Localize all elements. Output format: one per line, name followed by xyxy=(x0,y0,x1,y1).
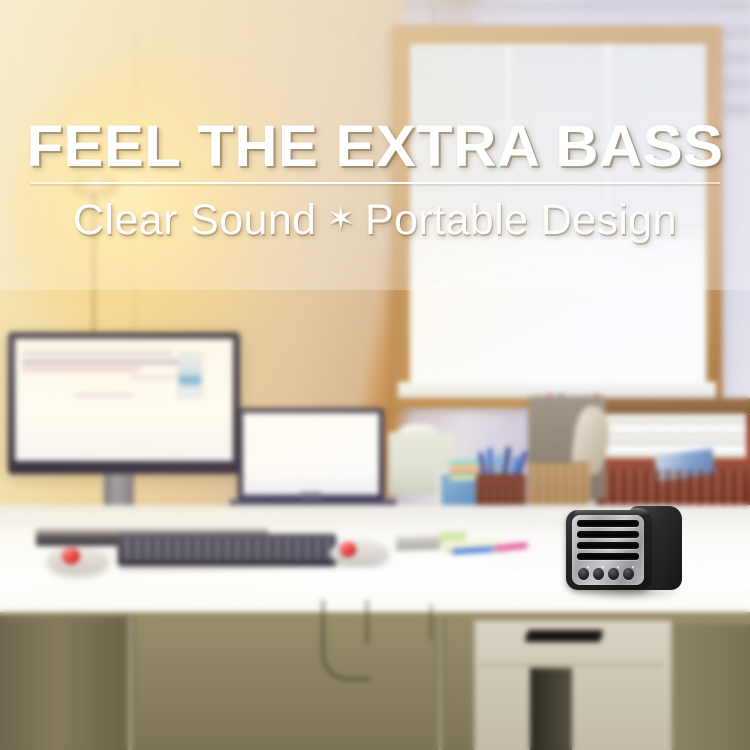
trackball-mouse-right xyxy=(330,540,388,566)
monitor-content-line xyxy=(22,360,200,364)
bluetooth-speaker xyxy=(566,504,684,594)
drawer-seam xyxy=(480,664,664,666)
hanging-cable xyxy=(322,600,370,680)
speaker-led-1 xyxy=(587,566,589,568)
speaker-button-1[interactable] xyxy=(578,568,589,580)
cabinet-post xyxy=(126,614,135,750)
organizer-papers xyxy=(606,414,746,458)
speaker-control-buttons[interactable] xyxy=(577,566,639,582)
cabinet-left-panel xyxy=(0,616,128,750)
laptop-logo xyxy=(300,492,322,499)
cabinet-post xyxy=(436,618,445,750)
hanging-cable xyxy=(430,604,432,640)
speaker-button-3[interactable] xyxy=(608,568,619,580)
window-light-blowout xyxy=(412,236,704,386)
monitor-content-line xyxy=(76,394,132,396)
grille-slot xyxy=(577,542,639,549)
floor-lamp-pole xyxy=(92,192,96,352)
speaker-top-highlight xyxy=(574,508,648,516)
laptop-screen xyxy=(243,413,379,495)
monitor-sidebar-widget xyxy=(178,352,202,398)
window-mullion-horizontal xyxy=(410,226,706,235)
trackball-ball-left xyxy=(62,548,80,564)
grille-slot xyxy=(577,531,639,538)
shelf-edge xyxy=(600,398,750,414)
office-scene-photo xyxy=(0,0,750,750)
calculator xyxy=(396,535,440,551)
monitor-content-line xyxy=(22,352,172,355)
floor-lamp-glow xyxy=(10,60,310,360)
grille-slot xyxy=(577,553,639,560)
drawer-handle xyxy=(524,630,603,642)
speaker-grille xyxy=(577,520,639,562)
speaker-button-4[interactable] xyxy=(623,568,634,580)
product-banner: FEEL THE EXTRA BASS Clear Sound✶Portable… xyxy=(0,0,750,750)
speaker-led-4 xyxy=(632,566,634,568)
speaker-led-3 xyxy=(617,566,619,568)
keyboard-keys xyxy=(124,538,330,560)
cabinet-right-panel xyxy=(672,624,750,750)
trackball-ball-right xyxy=(340,542,356,557)
grille-slot xyxy=(577,520,639,527)
monitor-content-line xyxy=(22,368,140,370)
hanging-cable xyxy=(366,600,368,644)
drawer-opening xyxy=(530,668,572,750)
speaker-led-2 xyxy=(602,566,604,568)
speaker-button-2[interactable] xyxy=(593,568,604,580)
